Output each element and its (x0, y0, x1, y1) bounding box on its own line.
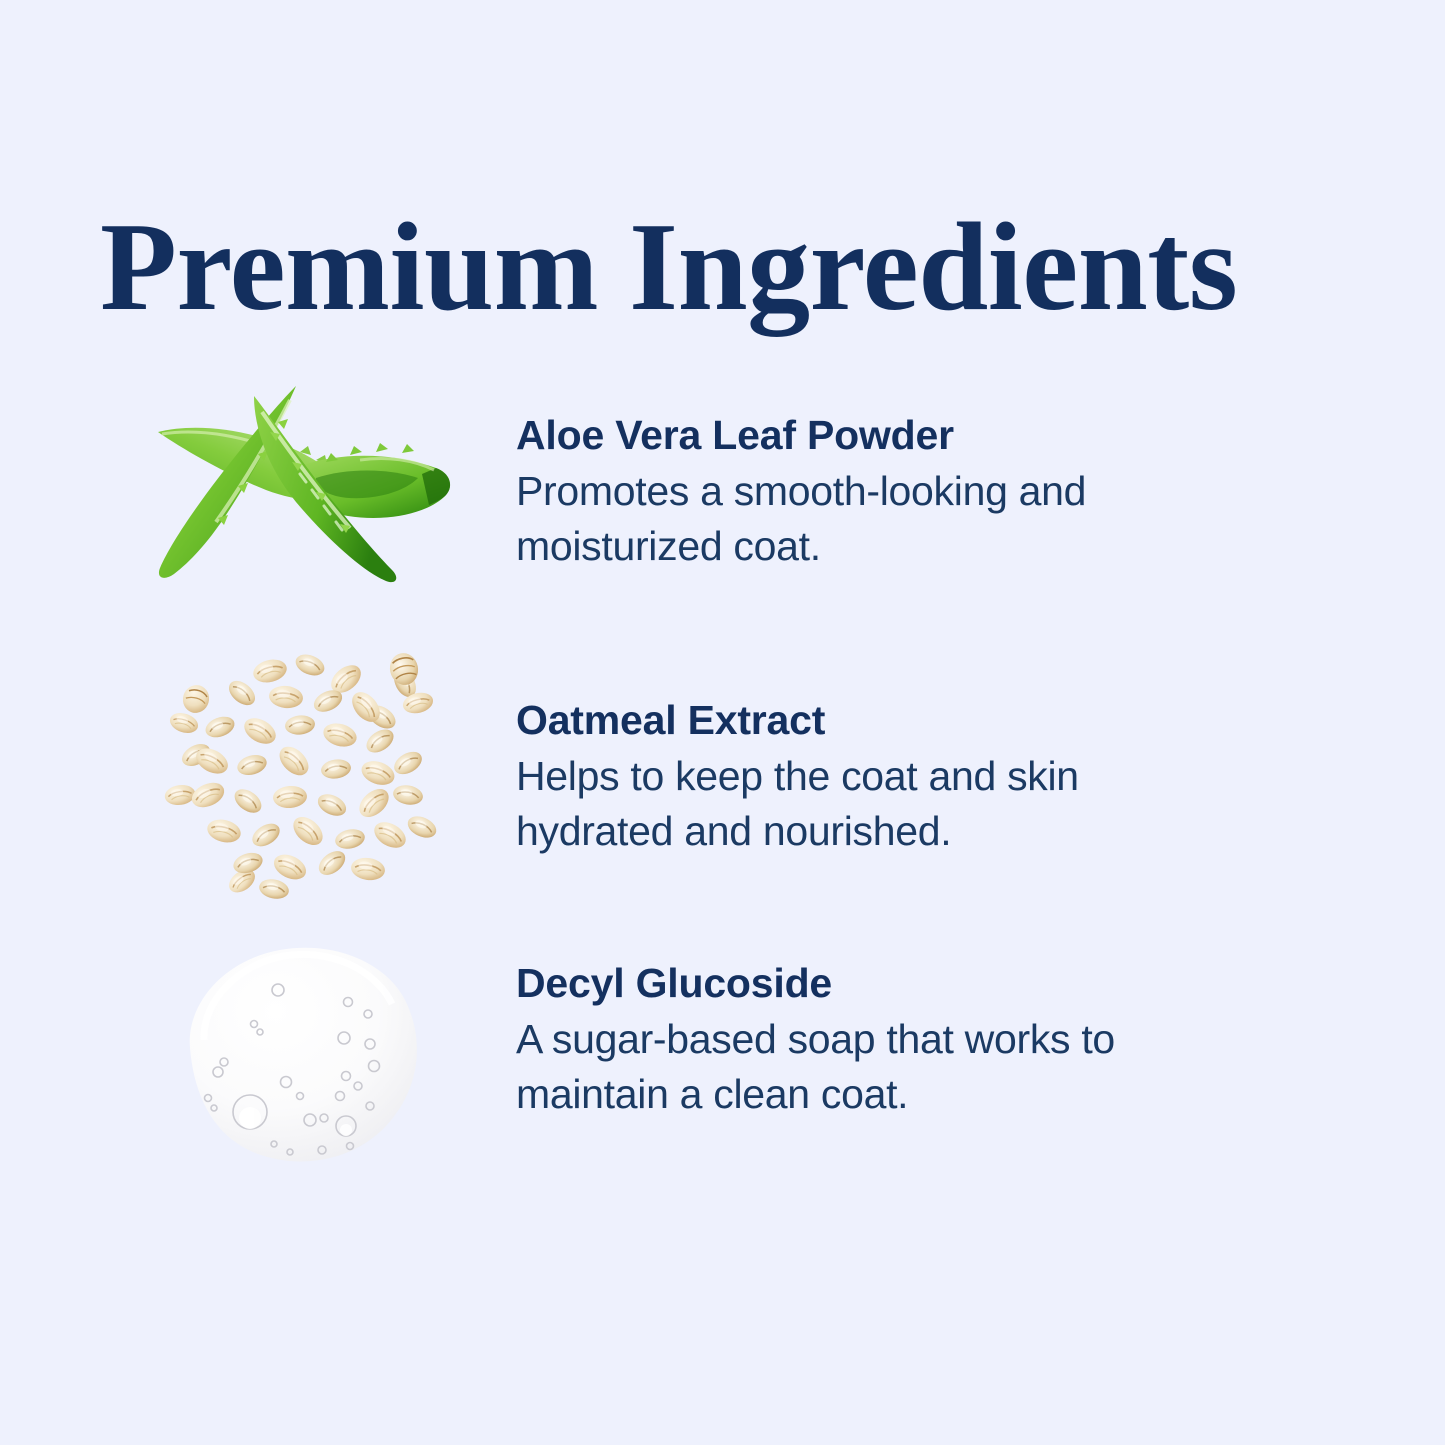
ingredient-name: Aloe Vera Leaf Powder (516, 410, 1276, 460)
ingredient-copy: Aloe Vera Leaf Powder Promotes a smooth-… (516, 410, 1276, 573)
ingredient-description: Helps to keep the coat and skin hydrated… (516, 749, 1216, 858)
oatmeal-icon (150, 645, 460, 900)
ingredient-list: Aloe Vera Leaf Powder Promotes a smooth-… (0, 0, 1445, 1445)
ingredient-name: Decyl Glucoside (516, 958, 1276, 1008)
ingredient-row: Decyl Glucoside A sugar-based soap that … (0, 930, 1445, 1180)
ingredient-copy: Decyl Glucoside A sugar-based soap that … (516, 958, 1276, 1121)
ingredient-description: A sugar-based soap that works to maintai… (516, 1012, 1216, 1121)
gel-blob-icon (150, 930, 460, 1180)
ingredient-row: Oatmeal Extract Helps to keep the coat a… (0, 645, 1445, 900)
ingredient-row: Aloe Vera Leaf Powder Promotes a smooth-… (0, 382, 1445, 587)
ingredient-description: Promotes a smooth-looking and moisturize… (516, 464, 1216, 573)
ingredient-name: Oatmeal Extract (516, 695, 1276, 745)
ingredients-page: Premium Ingredients (0, 0, 1445, 1445)
aloe-vera-icon (150, 382, 460, 587)
ingredient-copy: Oatmeal Extract Helps to keep the coat a… (516, 695, 1276, 858)
